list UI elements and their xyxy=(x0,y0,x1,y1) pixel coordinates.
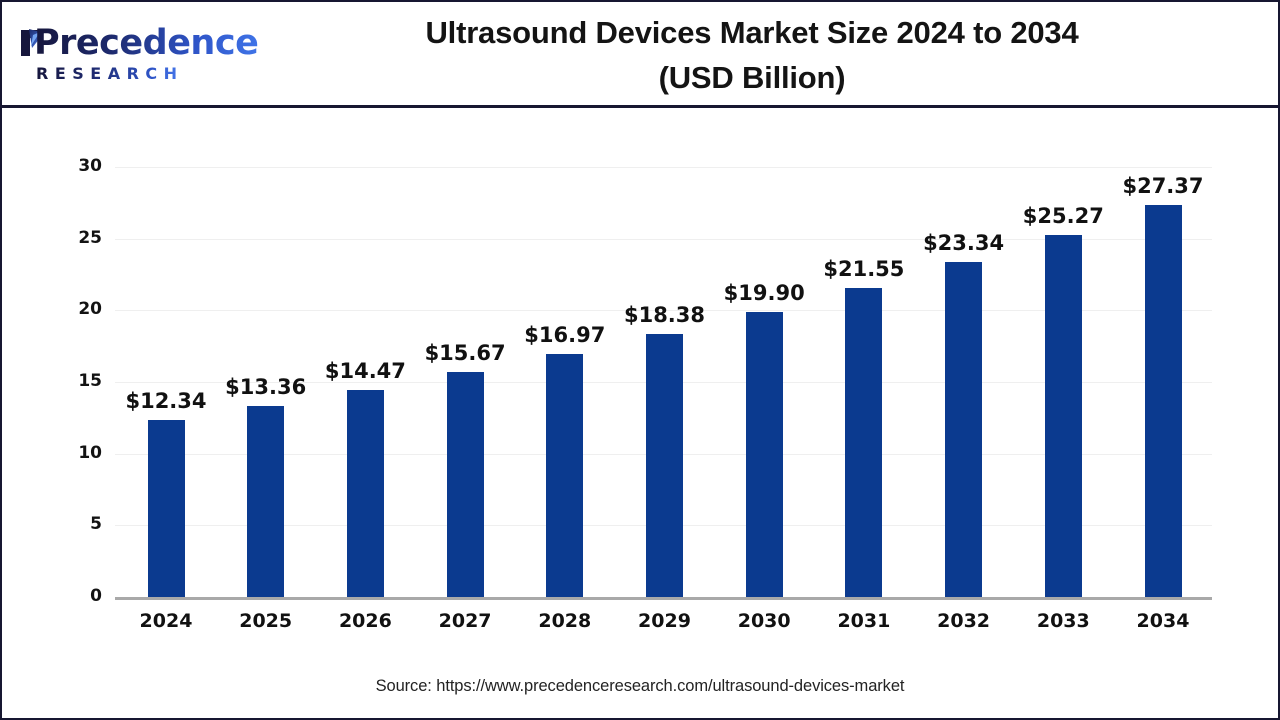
page-header: Precedence RESEARCH Ultrasound Devices M… xyxy=(2,2,1278,108)
source-caption: Source: https://www.precedenceresearch.c… xyxy=(2,677,1278,696)
bar-value-label: $25.27 xyxy=(1003,205,1123,227)
page-title-line2: (USD Billion) xyxy=(252,55,1252,100)
bar xyxy=(447,372,484,597)
bar-chart: 051015202530 $12.342024$13.362025$14.472… xyxy=(2,108,1278,718)
bar xyxy=(148,420,185,597)
bar xyxy=(646,334,683,597)
bar xyxy=(746,312,783,597)
bar xyxy=(1045,235,1082,597)
bar-value-label: $23.34 xyxy=(904,232,1024,254)
logo-wordmark: Precedence xyxy=(34,24,258,62)
bar xyxy=(1145,205,1182,597)
bar xyxy=(247,406,284,597)
bar xyxy=(845,288,882,597)
precedence-research-logo: Precedence RESEARCH xyxy=(16,24,228,86)
bar-value-label: $18.38 xyxy=(605,304,725,326)
bar-value-label: $16.97 xyxy=(505,324,625,346)
x-axis-category-label: 2034 xyxy=(1103,610,1223,632)
logo-subtitle: RESEARCH xyxy=(36,64,184,84)
bar xyxy=(347,390,384,597)
page-title-line1: Ultrasound Devices Market Size 2024 to 2… xyxy=(425,15,1078,50)
bar-value-label: $27.37 xyxy=(1103,175,1223,197)
bar xyxy=(945,262,982,597)
bar xyxy=(546,354,583,597)
bar-series: $12.342024$13.362025$14.472026$15.672027… xyxy=(2,108,1278,718)
page-title: Ultrasound Devices Market Size 2024 to 2… xyxy=(252,10,1252,100)
chart-page: Precedence RESEARCH Ultrasound Devices M… xyxy=(0,0,1280,720)
bar-value-label: $19.90 xyxy=(704,282,824,304)
bar-value-label: $21.55 xyxy=(804,258,924,280)
